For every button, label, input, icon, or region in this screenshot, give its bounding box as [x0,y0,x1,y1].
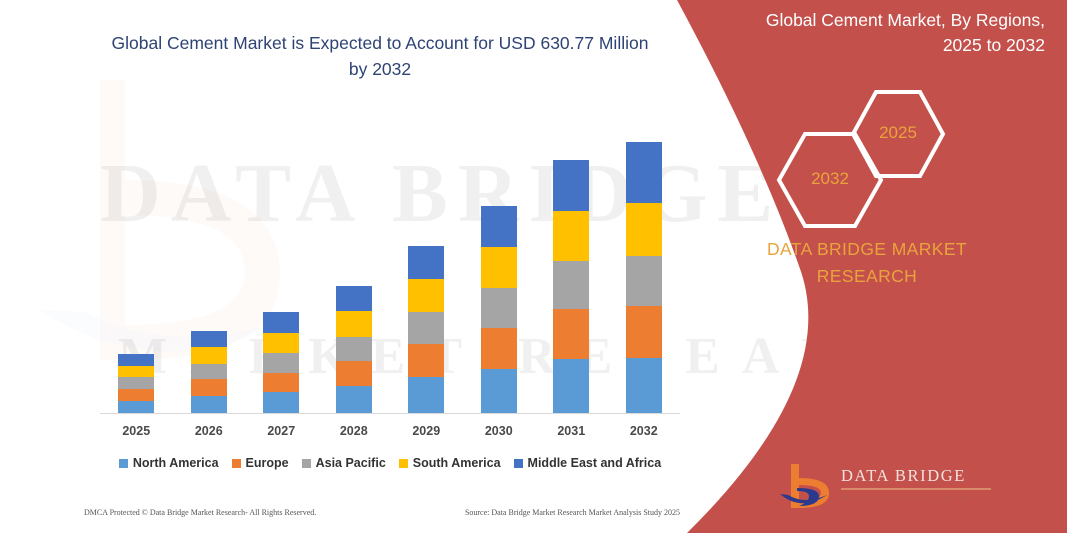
bar-segment [191,379,227,396]
bar-segment [408,279,444,312]
bar-segment [263,333,299,353]
legend-swatch-icon [514,459,523,468]
stacked-bar [408,246,444,412]
bar-segment [553,211,589,261]
x-axis-tick-label: 2027 [245,424,318,438]
bar-segment [626,203,662,256]
hexagon-2025: 2025 [849,88,947,180]
bar-segment [626,142,662,203]
bar-column [173,121,246,413]
hexagon-group: 2032 2025 [761,88,1021,213]
bar-segment [408,312,444,344]
bar-segment [191,396,227,413]
x-axis-tick-label: 2031 [535,424,608,438]
legend-label: Europe [246,456,289,470]
brand-name: DATA BRIDGE MARKET RESEARCH [667,236,1067,290]
bar-segment [336,337,372,361]
bar-column [535,121,608,413]
stacked-bars [100,121,680,413]
bar-segment [553,261,589,310]
bar-column [100,121,173,413]
bar-segment [118,377,154,389]
infographic-canvas: DATA BRIDGE MARKET RESEARCH Global Cemen… [0,0,1067,533]
stacked-bar [263,312,299,412]
brand-panel: Global Cement Market, By Regions, 2025 t… [667,0,1067,533]
bar-segment [118,366,154,378]
bar-segment [263,373,299,392]
hexagon-2025-label: 2025 [849,123,947,143]
logo-line-2: MARKET RESEARCH [841,492,991,502]
stacked-bar [336,286,372,412]
legend-label: South America [413,456,501,470]
x-axis-tick-label: 2028 [318,424,391,438]
stacked-bar [118,354,154,412]
x-axis-labels: 20252026202720282029203020312032 [100,424,680,438]
legend-swatch-icon [119,459,128,468]
legend-label: Asia Pacific [316,456,386,470]
legend-item[interactable]: Asia Pacific [302,456,386,470]
bar-segment [336,361,372,386]
bar-segment [336,311,372,336]
x-axis-tick-label: 2030 [463,424,536,438]
legend-swatch-icon [232,459,241,468]
data-bridge-logo-icon [779,462,837,512]
legend-swatch-icon [399,459,408,468]
x-axis-tick-label: 2025 [100,424,173,438]
x-axis-line [100,413,680,415]
legend-label: North America [133,456,219,470]
bar-segment [626,358,662,413]
bar-segment [408,246,444,279]
bar-segment [191,331,227,348]
stacked-bar [626,142,662,413]
legend-swatch-icon [302,459,311,468]
x-axis-tick-label: 2029 [390,424,463,438]
bar-segment [553,309,589,359]
logo-wordmark: DATA BRIDGE MARKET RESEARCH [841,466,991,502]
bar-segment [626,256,662,307]
chart-plot-area [100,120,680,414]
footer-source: Source: Data Bridge Market Research Mark… [465,508,680,517]
legend-item[interactable]: Europe [232,456,289,470]
bar-segment [191,364,227,380]
bar-segment [336,386,372,412]
stacked-bar [191,331,227,413]
bar-segment [553,160,589,211]
legend-label: Middle East and Africa [528,456,662,470]
brand-line-2: RESEARCH [667,263,1067,290]
chart-legend: North AmericaEuropeAsia PacificSouth Ame… [100,456,680,470]
footer-copyright: DMCA Protected © Data Bridge Market Rese… [84,508,316,517]
legend-item[interactable]: North America [119,456,219,470]
bar-segment [481,206,517,247]
bar-segment [191,347,227,364]
bar-segment [336,286,372,311]
bar-segment [481,247,517,288]
bar-column [318,121,391,413]
logo-line-1: DATA BRIDGE [841,466,991,486]
bar-column [390,121,463,413]
bar-segment [553,359,589,413]
bar-column [463,121,536,413]
bar-segment [626,306,662,358]
legend-item[interactable]: South America [399,456,501,470]
footer: DMCA Protected © Data Bridge Market Rese… [84,508,680,517]
x-axis-tick-label: 2026 [173,424,246,438]
company-logo: DATA BRIDGE MARKET RESEARCH [779,462,994,514]
logo-divider [841,488,991,490]
bar-segment [408,377,444,412]
panel-title: Global Cement Market, By Regions, 2025 t… [745,8,1045,59]
bar-segment [481,328,517,369]
bar-segment [118,401,154,413]
bar-segment [481,369,517,413]
bar-segment [481,288,517,328]
stacked-bar [553,160,589,412]
bar-segment [263,392,299,412]
stacked-bar [481,206,517,412]
bar-segment [408,344,444,377]
bar-segment [118,389,154,401]
bar-segment [118,354,154,366]
bar-segment [263,312,299,332]
bar-column [245,121,318,413]
brand-line-1: DATA BRIDGE MARKET [667,236,1067,263]
bar-segment [263,353,299,372]
legend-item[interactable]: Middle East and Africa [514,456,662,470]
page-title: Global Cement Market is Expected to Acco… [110,30,650,83]
